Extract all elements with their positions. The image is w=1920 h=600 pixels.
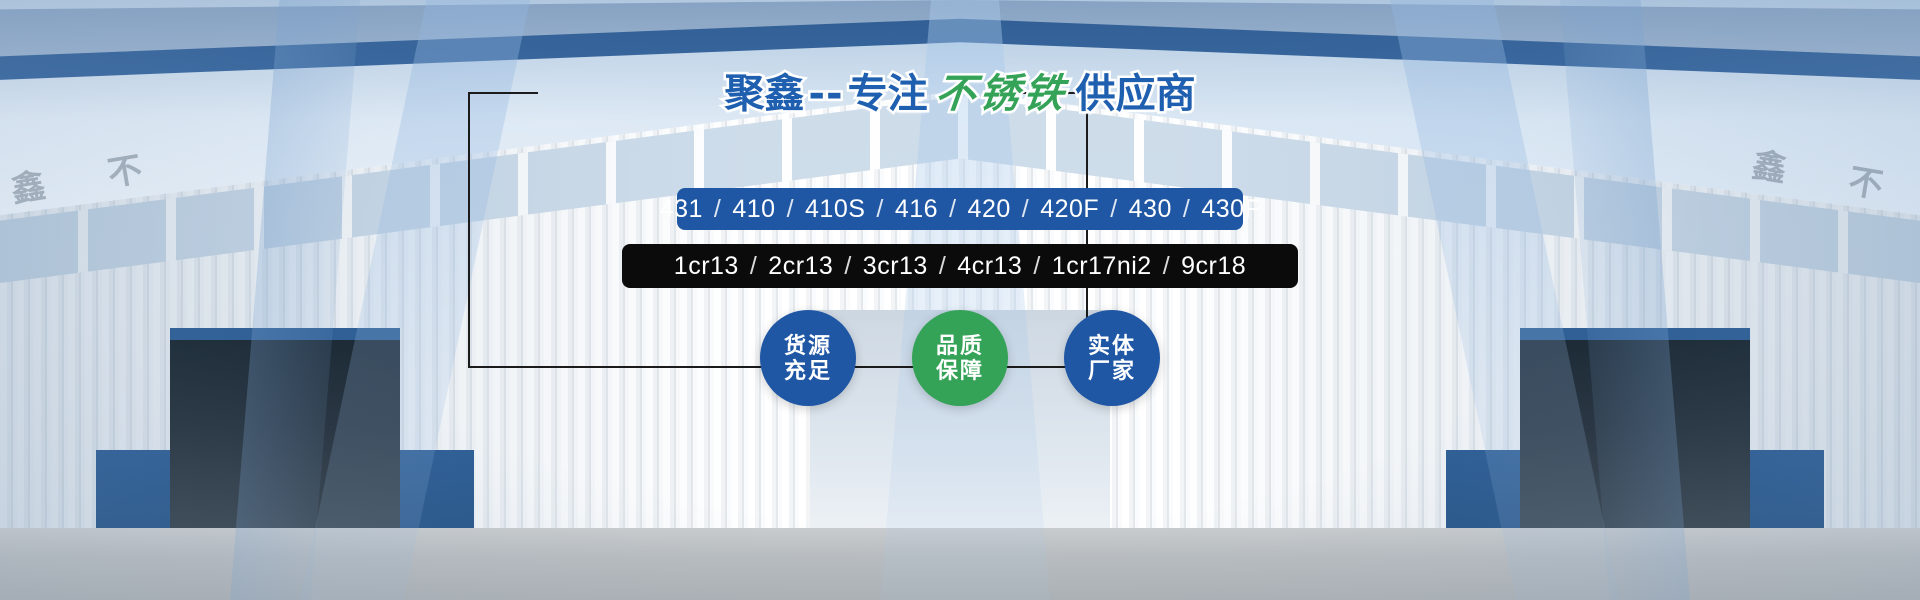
grade-item: 9cr18 bbox=[1179, 252, 1248, 281]
grade-separator: / bbox=[1154, 252, 1179, 281]
grade-item: 420F bbox=[1038, 195, 1101, 224]
feature-badges: 货源充足品质保障实体厂家 bbox=[760, 310, 1160, 406]
headline-supplier: 供应商 bbox=[1076, 74, 1196, 114]
grade-item: 4cr13 bbox=[955, 252, 1024, 281]
feature-badge: 货源充足 bbox=[760, 310, 856, 406]
headline-brand: 聚鑫 bbox=[724, 74, 804, 114]
grade-separator: / bbox=[1024, 252, 1049, 281]
feature-badge: 实体厂家 bbox=[1064, 310, 1160, 406]
headline-focus: 专注 bbox=[848, 74, 928, 114]
grade-item: 431 bbox=[658, 195, 705, 224]
banner-content: 聚鑫 -- 专注 不锈铁 供应商 431/410/410S/416/420/42… bbox=[0, 0, 1920, 600]
bracket-top-left-rule bbox=[468, 92, 538, 94]
grade-separator: / bbox=[930, 252, 955, 281]
grade-item: 430F bbox=[1199, 195, 1262, 224]
feature-badge-line1: 品质 bbox=[936, 333, 984, 358]
feature-badge-line2: 厂家 bbox=[1088, 358, 1136, 383]
grade-bar-primary: 431/410/410S/416/420/420F/430/430F bbox=[677, 188, 1243, 230]
grade-separator: / bbox=[835, 252, 860, 281]
feature-badge-line2: 充足 bbox=[784, 358, 832, 383]
feature-badge: 品质保障 bbox=[912, 310, 1008, 406]
grade-separator: / bbox=[741, 252, 766, 281]
grade-separator: / bbox=[1101, 195, 1126, 224]
headline-dash: -- bbox=[804, 74, 847, 114]
grade-item: 3cr13 bbox=[861, 252, 930, 281]
grade-separator: / bbox=[1013, 195, 1038, 224]
grade-item: 420 bbox=[966, 195, 1013, 224]
headline: 聚鑫 -- 专注 不锈铁 供应商 bbox=[724, 74, 1195, 114]
grade-separator: / bbox=[940, 195, 965, 224]
headline-highlight: 不锈铁 bbox=[925, 74, 1077, 114]
feature-badge-line2: 保障 bbox=[936, 358, 984, 383]
grade-item: 430 bbox=[1127, 195, 1174, 224]
feature-badge-line1: 货源 bbox=[784, 333, 832, 358]
promo-banner: 鑫 不 鑫 不 聚鑫 -- 专注 不锈铁 供应商 431/410/410S/41… bbox=[0, 0, 1920, 600]
grade-item: 416 bbox=[893, 195, 940, 224]
grade-separator: / bbox=[1174, 195, 1199, 224]
grade-bar-secondary: 1cr13/2cr13/3cr13/4cr13/1cr17ni2/9cr18 bbox=[622, 244, 1298, 288]
grade-item: 2cr13 bbox=[766, 252, 835, 281]
feature-badge-line1: 实体 bbox=[1088, 333, 1136, 358]
grade-item: 410S bbox=[803, 195, 867, 224]
grade-separator: / bbox=[705, 195, 730, 224]
grade-item: 410 bbox=[730, 195, 777, 224]
grade-item: 1cr17ni2 bbox=[1050, 252, 1154, 281]
grade-separator: / bbox=[867, 195, 892, 224]
grade-item: 1cr13 bbox=[672, 252, 741, 281]
grade-separator: / bbox=[778, 195, 803, 224]
